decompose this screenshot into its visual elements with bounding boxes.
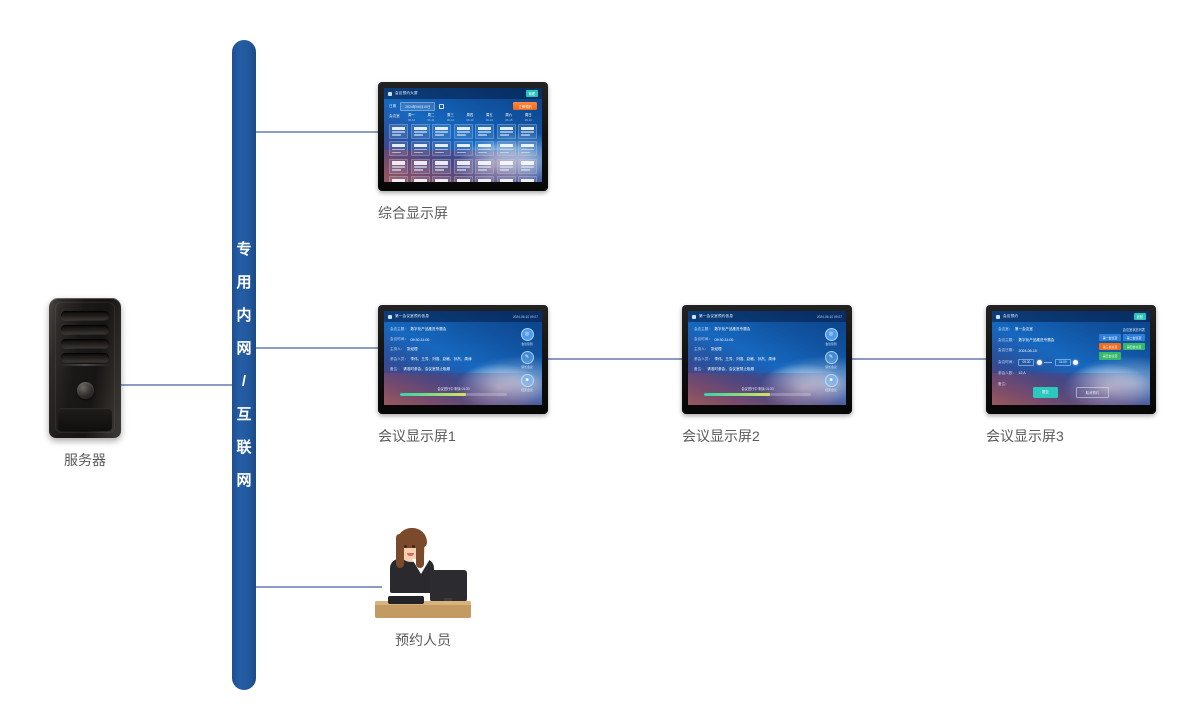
screen-b-info-key: 主持人： (694, 347, 708, 352)
side-button-glyph-icon: ◎ (829, 332, 833, 337)
screen-a-room-label: 会议室 (389, 112, 400, 119)
schedule-cell-line (457, 169, 466, 171)
schedule-cell-line (414, 134, 423, 136)
schedule-cell-line (457, 166, 470, 168)
schedule-cell-line (435, 149, 448, 151)
screen-c-form-value-end[interactable]: 11:00 (1055, 359, 1071, 366)
schedule-cell[interactable] (454, 141, 473, 156)
schedule-cell-title (478, 144, 491, 147)
screen-b-info-row: 备注：请准时参会，会议室禁止吸烟 (390, 367, 476, 372)
schedule-cell-title (521, 179, 534, 182)
schedule-cell-line (392, 169, 401, 171)
node-label-conference-display-1: 会议显示屏1 (378, 426, 548, 446)
screen-b-side-button-icon: ◎ (825, 328, 838, 341)
schedule-cell[interactable] (454, 176, 473, 182)
backbone-char-2: 内 (236, 308, 251, 323)
schedule-cell[interactable] (411, 141, 430, 156)
screen-b-info-key: 会议主题： (390, 327, 408, 332)
screen-c-form-row: 参会人数：12人 (998, 371, 1090, 376)
screen-b-progress: 会议进行中 剩余 01:33 (704, 386, 811, 396)
backbone-char-7: 网 (236, 473, 251, 488)
keyboard-icon (388, 596, 424, 604)
schedule-cell-title (392, 179, 405, 182)
screen-b-side-button-icon: ✎ (825, 351, 838, 364)
side-button-glyph-icon: ■ (525, 378, 528, 383)
screen-b-side-button[interactable]: ✎延长会议 (516, 351, 538, 369)
screen-c-form-value[interactable]: 12人 (1018, 371, 1026, 376)
server-icon (49, 298, 121, 438)
screen-a-day-column[interactable]: 周三06-12 (442, 112, 459, 122)
node-label-conference-display-2: 会议显示屏2 (682, 426, 852, 446)
schedule-cell[interactable] (411, 124, 430, 139)
screen-c-back-button[interactable]: 返回 (1134, 313, 1146, 320)
schedule-cell-line (500, 169, 509, 171)
schedule-cell[interactable] (475, 124, 494, 139)
schedule-cell-line (414, 152, 423, 154)
schedule-cell-title (521, 127, 534, 130)
backbone-char-4: / (242, 374, 246, 389)
screen-conference-1: 第一会议室预约信息 2024-06-10 09:27 会议主题：数字化产品推进专… (384, 311, 542, 405)
screen-b-side-button[interactable]: ◎会议签到 (516, 328, 538, 346)
schedule-cell-line (414, 149, 427, 151)
backbone-char-1: 用 (236, 275, 251, 290)
screen-a-day-name: 周二 (422, 112, 439, 117)
screen-a-day-name: 周四 (461, 112, 478, 117)
screen-a-schedule-grid (389, 124, 537, 182)
schedule-cell-title (521, 144, 534, 147)
node-conference-display-1[interactable]: 第一会议室预约信息 2024-06-10 09:27 会议主题：数字化产品推进专… (378, 305, 548, 446)
schedule-cell-title (521, 161, 534, 164)
screen-b-info-value: 09:30-11:00 (410, 338, 429, 342)
screen-c-room-button[interactable]: 第一会议室 (1099, 334, 1121, 341)
schedule-cell-title (392, 161, 405, 164)
schedule-cell[interactable] (475, 176, 494, 182)
screen-a-day-name: 周日 (520, 112, 537, 117)
screen-ui-conference-3: 会议预约 返回 会议室：第一会议室会议主题：数字化产品推进专题会会议日期：202… (992, 311, 1150, 405)
screen-b-info-key: 备注： (694, 367, 705, 372)
schedule-cell-line (392, 149, 405, 151)
schedule-cell-title (414, 144, 427, 147)
screen-a-day-name: 周六 (500, 112, 517, 117)
screen-b-info-value: 张经理 (407, 347, 418, 352)
connector-conference-2-to-3 (852, 358, 988, 360)
server-vents (61, 311, 109, 362)
schedule-cell-line (392, 131, 405, 133)
screen-c-form-key: 会议日期： (998, 348, 1016, 353)
screen-b-titlebar: 第一会议室预约信息 2024-06-10 09:27 (384, 311, 542, 322)
backbone-char-6: 联 (236, 440, 251, 455)
schedule-cell-title (435, 144, 448, 147)
screen-b-side-button-label: 结束会议 (820, 388, 842, 392)
schedule-cell-title (457, 161, 470, 164)
screen-integrated-display: 会议预约大屏 管理 日期 2024年06月10日 立即预约 会议室 周一06-1… (384, 88, 542, 182)
schedule-cell-title (457, 144, 470, 147)
connector-backbone-to-integrated-display (254, 131, 380, 133)
schedule-cell[interactable] (518, 124, 537, 139)
node-operator[interactable]: 预约人员 (358, 528, 488, 650)
screen-b-side-button-icon: ◎ (521, 328, 534, 341)
server-vent (61, 325, 109, 334)
screen-b-info-row: 参会人员：李伟、王芳、刘强、赵敏、孙杰、周涛 (694, 357, 780, 362)
operator-eye-right (412, 545, 415, 548)
schedule-cell[interactable] (432, 141, 451, 156)
schedule-cell-line (521, 152, 530, 154)
schedule-cell[interactable] (497, 159, 516, 174)
node-label-operator: 预约人员 (358, 630, 488, 650)
screen-b-side-button[interactable]: ✎延长会议 (820, 351, 842, 369)
schedule-cell-line (457, 152, 466, 154)
schedule-cell-line (521, 149, 534, 151)
screen-c-form-row: 会议室：第一会议室 (998, 327, 1090, 332)
screen-c-room-button[interactable]: 第四会议室 (1123, 343, 1145, 350)
screen-c-form-key: 会议主题： (998, 338, 1016, 343)
screen-b-side-buttons: ◎会议签到✎延长会议■结束会议 (516, 328, 538, 392)
screen-b-info-row: 主持人：张经理 (390, 347, 476, 352)
screen-a-day-name: 周五 (481, 112, 498, 117)
screen-c-form-value[interactable]: 第一会议室 (1015, 327, 1033, 332)
app-logo-icon (388, 315, 392, 319)
schedule-cell[interactable] (411, 159, 430, 174)
screen-ui-integrated: 会议预约大屏 管理 日期 2024年06月10日 立即预约 会议室 周一06-1… (384, 88, 542, 182)
screen-c-titlebar: 会议预约 返回 (992, 311, 1150, 322)
connector-backbone-to-conference-1 (254, 347, 380, 349)
schedule-cell-line (500, 131, 513, 133)
backbone-char-3: 网 (236, 341, 251, 356)
schedule-cell-title (435, 161, 448, 164)
screen-b-info-value: 李伟、王芳、刘强、赵敏、孙杰、周涛 (714, 357, 775, 362)
screen-a-title: 会议预约大屏 (395, 91, 418, 96)
screen-c-form-key: 会议时间： (998, 360, 1016, 365)
schedule-cell[interactable] (389, 159, 408, 174)
schedule-cell[interactable] (518, 159, 537, 174)
screen-b-progress: 会议进行中 剩余 01:33 (400, 386, 507, 396)
app-logo-icon (388, 92, 392, 96)
screen-c-room-button[interactable]: 第三会议室 (1099, 343, 1121, 350)
progress-fill (400, 393, 467, 396)
schedule-cell-title (457, 179, 470, 182)
schedule-cell-title (414, 179, 427, 182)
screen-c-form-key: 会议室： (998, 327, 1012, 332)
schedule-cell-line (500, 152, 509, 154)
schedule-cell-line (478, 131, 491, 133)
screen-b-info-row: 备注：请准时参会，会议室禁止吸烟 (694, 367, 780, 372)
screen-c-form-value[interactable]: 09:30 (1018, 359, 1034, 366)
screen-b-side-button-label: 会议签到 (516, 342, 538, 346)
node-label-conference-display-3: 会议显示屏3 (986, 426, 1156, 446)
screen-a-badge[interactable]: 管理 (526, 90, 538, 97)
screen-c-form-key: 备注： (998, 382, 1009, 387)
screen-b-info-value: 张经理 (711, 347, 722, 352)
screen-b-side-button[interactable]: ■结束会议 (516, 374, 538, 392)
screen-c-time-slider-knob[interactable] (1037, 360, 1042, 365)
node-label-server: 服务器 (30, 450, 140, 470)
screen-b-side-button-icon: ■ (521, 374, 534, 387)
screen-a-day-column[interactable]: 周一06-10 (403, 112, 420, 122)
schedule-cell[interactable] (389, 124, 408, 139)
screen-b-title: 第一会议室预约信息 (395, 314, 429, 319)
schedule-cell-line (435, 131, 448, 133)
node-server[interactable]: 服务器 (30, 298, 140, 470)
server-vent (61, 339, 109, 348)
screen-a-day-date: 06-16 (520, 118, 537, 122)
operator-icon (375, 528, 471, 618)
screen-b-info-key: 会议主题： (694, 327, 712, 332)
screen-ui-conference-1: 第一会议室预约信息 2024-06-10 09:27 会议主题：数字化产品推进专… (384, 311, 542, 405)
screen-b-side-button-label: 会议签到 (820, 342, 842, 346)
monitor-bezel-conference-3: 会议预约 返回 会议室：第一会议室会议主题：数字化产品推进专题会会议日期：202… (986, 305, 1156, 414)
screen-a-day-name: 周三 (442, 112, 459, 117)
screen-c-form-row: 会议时间：09:3011:00 (998, 359, 1090, 366)
monitor-bezel-integrated: 会议预约大屏 管理 日期 2024年06月10日 立即预约 会议室 周一06-1… (378, 82, 548, 191)
screen-a-day-date: 06-13 (461, 118, 478, 122)
node-conference-display-3[interactable]: 会议预约 返回 会议室：第一会议室会议主题：数字化产品推进专题会会议日期：202… (986, 305, 1156, 446)
calendar-icon[interactable] (439, 104, 444, 109)
screen-a-day-date: 06-15 (500, 118, 517, 122)
schedule-cell-line (414, 166, 427, 168)
server-power-knob-icon (77, 382, 94, 399)
schedule-cell-title (457, 127, 470, 130)
schedule-cell-line (435, 134, 444, 136)
schedule-cell-line (392, 134, 401, 136)
screen-b-side-button-label: 延长会议 (516, 365, 538, 369)
screen-a-day-column[interactable]: 周六06-15 (500, 112, 517, 122)
screen-c-title: 会议预约 (1003, 314, 1018, 319)
schedule-cell[interactable] (497, 176, 516, 182)
schedule-cell[interactable] (454, 124, 473, 139)
screen-b-title: 第一会议室预约信息 (699, 314, 733, 319)
schedule-cell-line (500, 166, 513, 168)
schedule-cell-line (392, 152, 401, 154)
screen-a-day-date: 06-10 (403, 118, 420, 122)
schedule-cell-line (478, 134, 487, 136)
progress-track (400, 393, 507, 396)
schedule-cell-title (500, 144, 513, 147)
schedule-cell-line (414, 131, 427, 133)
screen-c-form-row: 备注： (998, 382, 1090, 387)
app-logo-icon (692, 315, 696, 319)
schedule-cell-title (435, 127, 448, 130)
screen-a-date-picker[interactable]: 2024年06月10日 (400, 102, 435, 111)
schedule-cell[interactable] (432, 176, 451, 182)
side-button-glyph-icon: ■ (829, 378, 832, 383)
app-logo-icon (996, 315, 1000, 319)
schedule-cell-line (457, 134, 466, 136)
screen-b-side-button[interactable]: ◎会议签到 (820, 328, 842, 346)
schedule-cell-title (500, 179, 513, 182)
screen-c-form-value[interactable]: 数字化产品推进专题会 (1018, 338, 1054, 343)
screen-c-time-slider-knob[interactable] (1073, 360, 1078, 365)
schedule-cell-line (457, 149, 470, 151)
schedule-cell-line (435, 166, 448, 168)
schedule-cell[interactable] (518, 176, 537, 182)
schedule-cell[interactable] (411, 176, 430, 182)
side-button-glyph-icon: ✎ (525, 355, 529, 360)
screen-b-info-row: 会议时间：09:30-11:00 (390, 337, 476, 342)
screen-b-info-row: 会议时间：09:30-11:00 (694, 337, 780, 342)
screen-b-info-value: 请准时参会，会议室禁止吸烟 (403, 367, 450, 372)
schedule-cell[interactable] (432, 124, 451, 139)
screen-ui-conference-2: 第一会议室预约信息 2024-06-10 09:27 会议主题：数字化产品推进专… (688, 311, 846, 405)
screen-b-info-key: 备注： (390, 367, 401, 372)
network-backbone-label: 专 用 内 网 / 互 联 网 (232, 40, 256, 690)
screen-a-day-date: 06-11 (422, 118, 439, 122)
monitor-bezel-conference-1: 第一会议室预约信息 2024-06-10 09:27 会议主题：数字化产品推进专… (378, 305, 548, 414)
schedule-cell[interactable] (432, 159, 451, 174)
screen-c-room-button[interactable]: 第二会议室 (1123, 334, 1145, 341)
screen-a-day-name: 周一 (403, 112, 420, 117)
server-seam (59, 364, 111, 366)
operator-eye-left (404, 545, 407, 548)
screen-b-info-key: 会议时间： (390, 337, 408, 342)
screen-b-titlebar: 第一会议室预约信息 2024-06-10 09:27 (688, 311, 846, 322)
screen-b-clock: 2024-06-10 09:27 (817, 315, 842, 319)
schedule-cell-title (478, 161, 491, 164)
screen-b-info-value: 请准时参会，会议室禁止吸烟 (707, 367, 754, 372)
node-integrated-display[interactable]: 会议预约大屏 管理 日期 2024年06月10日 立即预约 会议室 周一06-1… (378, 82, 548, 223)
schedule-cell[interactable] (389, 176, 408, 182)
schedule-cell[interactable] (389, 141, 408, 156)
screen-a-filter-label: 日期 (389, 104, 396, 109)
connector-conference-1-to-2 (548, 358, 684, 360)
node-conference-display-2[interactable]: 第一会议室预约信息 2024-06-10 09:27 会议主题：数字化产品推进专… (682, 305, 852, 446)
node-label-integrated-display: 综合显示屏 (378, 203, 548, 223)
screen-b-info-row: 会议主题：数字化产品推进专题会 (694, 327, 780, 332)
schedule-cell-title (478, 179, 491, 182)
schedule-cell-title (500, 127, 513, 130)
screen-a-day-columns: 周一06-10周二06-11周三06-12周四06-13周五06-14周六06-… (403, 112, 537, 122)
screen-c-rooms-title: 会议室状态列表 (1123, 327, 1145, 332)
screen-b-info-key: 会议时间： (694, 337, 712, 342)
schedule-cell-line (478, 152, 487, 154)
screen-c-actions: 提交 取消预约 (992, 387, 1150, 398)
schedule-cell[interactable] (497, 141, 516, 156)
schedule-cell-line (435, 152, 444, 154)
schedule-cell[interactable] (475, 141, 494, 156)
screen-c-form-key: 参会人数： (998, 371, 1016, 376)
screen-b-info-rows: 会议主题：数字化产品推进专题会会议时间：09:30-11:00主持人：张经理参会… (694, 327, 780, 377)
schedule-cell[interactable] (475, 159, 494, 174)
screen-a-day-date: 06-14 (481, 118, 498, 122)
topology-diagram: 专 用 内 网 / 互 联 网 服务器 (0, 0, 1200, 718)
screen-a-day-header: 会议室 周一06-10周二06-11周三06-12周四06-13周五06-14周… (389, 112, 537, 122)
server-lower-panel (58, 408, 112, 431)
screen-c-submit-button[interactable]: 提交 (1033, 387, 1058, 398)
schedule-cell-line (521, 134, 530, 136)
schedule-cell-title (414, 127, 427, 130)
side-button-glyph-icon: ◎ (525, 332, 529, 337)
schedule-cell-title (478, 127, 491, 130)
schedule-cell-line (435, 169, 444, 171)
screen-b-clock: 2024-06-10 09:27 (513, 315, 538, 319)
schedule-cell-line (500, 149, 513, 151)
backbone-char-5: 互 (236, 407, 251, 422)
schedule-cell-title (392, 127, 405, 130)
screen-c-cancel-button[interactable]: 取消预约 (1076, 387, 1110, 398)
screen-a-day-column[interactable]: 周日06-16 (520, 112, 537, 122)
screen-c-room-button[interactable]: 第五会议室 (1099, 352, 1121, 359)
backbone-char-0: 专 (236, 242, 251, 257)
schedule-cell-title (500, 161, 513, 164)
server-vent (61, 311, 109, 320)
schedule-cell[interactable] (454, 159, 473, 174)
schedule-cell-line (392, 166, 405, 168)
screen-b-info-value: 李伟、王芳、刘强、赵敏、孙杰、周涛 (410, 357, 471, 362)
schedule-cell-line (521, 131, 534, 133)
screen-b-info-key: 主持人： (390, 347, 404, 352)
schedule-cell[interactable] (518, 141, 537, 156)
screen-b-info-value: 数字化产品推进专题会 (714, 327, 750, 332)
schedule-cell-line (478, 169, 487, 171)
screen-b-info-row: 会议主题：数字化产品推进专题会 (390, 327, 476, 332)
screen-c-form-row: 会议主题：数字化产品推进专题会 (998, 338, 1090, 343)
screen-b-progress-caption: 会议进行中 剩余 01:33 (400, 386, 507, 391)
screen-a-day-date: 06-12 (442, 118, 459, 122)
schedule-cell[interactable] (497, 124, 516, 139)
screen-a-day-column[interactable]: 周四06-13 (461, 112, 478, 122)
screen-b-progress-caption: 会议进行中 剩余 01:33 (704, 386, 811, 391)
progress-fill (704, 393, 771, 396)
monitor-bezel-conference-2: 第一会议室预约信息 2024-06-10 09:27 会议主题：数字化产品推进专… (682, 305, 852, 414)
schedule-cell-line (521, 169, 530, 171)
screen-b-side-button[interactable]: ■结束会议 (820, 374, 842, 392)
schedule-cell-title (435, 179, 448, 182)
schedule-cell-line (414, 169, 423, 171)
screen-b-info-key: 参会人员： (390, 357, 408, 362)
screen-c-range-dash (1044, 362, 1052, 363)
schedule-cell-line (521, 166, 534, 168)
screen-a-titlebar: 会议预约大屏 管理 (384, 88, 542, 99)
screen-b-info-row: 主持人：张经理 (694, 347, 780, 352)
screen-b-info-value: 09:30-11:00 (714, 338, 733, 342)
screen-conference-3: 会议预约 返回 会议室：第一会议室会议主题：数字化产品推进专题会会议日期：202… (992, 311, 1150, 405)
schedule-cell-title (414, 161, 427, 164)
progress-track (704, 393, 811, 396)
screen-b-info-value: 数字化产品推进专题会 (410, 327, 446, 332)
screen-c-room-list: 第一会议室第二会议室第三会议室第四会议室第五会议室 (1099, 334, 1145, 360)
schedule-cell-title (392, 144, 405, 147)
screen-b-info-key: 参会人员： (694, 357, 712, 362)
side-button-glyph-icon: ✎ (829, 355, 833, 360)
screen-b-side-button-icon: ✎ (521, 351, 534, 364)
screen-b-side-buttons: ◎会议签到✎延长会议■结束会议 (820, 328, 842, 392)
screen-b-side-button-label: 结束会议 (516, 388, 538, 392)
schedule-cell-line (478, 149, 491, 151)
screen-c-form-row: 会议日期：2024-06-10 (998, 348, 1090, 353)
screen-conference-2: 第一会议室预约信息 2024-06-10 09:27 会议主题：数字化产品推进专… (688, 311, 846, 405)
screen-b-side-button-label: 延长会议 (820, 365, 842, 369)
screen-b-info-rows: 会议主题：数字化产品推进专题会会议时间：09:30-11:00主持人：张经理参会… (390, 327, 476, 377)
server-vent (61, 353, 109, 362)
screen-a-day-column[interactable]: 周二06-11 (422, 112, 439, 122)
schedule-cell-line (500, 134, 509, 136)
screen-b-side-button-icon: ■ (825, 374, 838, 387)
screen-c-form-value[interactable]: 2024-06-10 (1018, 349, 1036, 353)
schedule-cell-line (457, 131, 470, 133)
screen-c-form-rows: 会议室：第一会议室会议主题：数字化产品推进专题会会议日期：2024-06-10会… (998, 327, 1090, 392)
screen-b-info-row: 参会人员：李伟、王芳、刘强、赵敏、孙杰、周涛 (390, 357, 476, 362)
screen-a-day-column[interactable]: 周五06-14 (481, 112, 498, 122)
screen-a-book-button[interactable]: 立即预约 (513, 102, 537, 110)
schedule-cell-line (478, 166, 491, 168)
